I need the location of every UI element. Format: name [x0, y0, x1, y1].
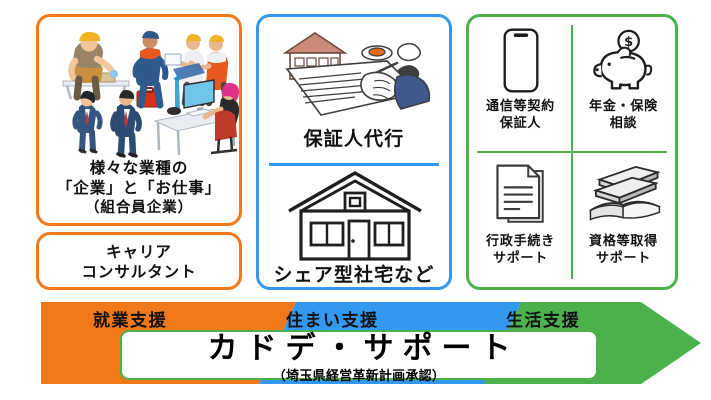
- living-caption-pension-line-2: 相談: [572, 116, 675, 133]
- house-line-drawing: [283, 171, 427, 263]
- banner-title: カドデ・サポート: [122, 332, 596, 366]
- living-item-pension-insurance: $: [572, 17, 675, 152]
- employment-label-line-2: 「企業」と「お仕事」: [39, 179, 239, 199]
- living-caption-pension-line-1: 年金・保険: [572, 99, 675, 116]
- living-item-telecom-guarantor: 通信等契約 保証人: [469, 17, 572, 152]
- panel-housing-support: 保証人代行 シェア型社宅: [256, 14, 452, 290]
- living-horizontal-divider: [477, 151, 667, 153]
- career-label-line-2: コンサルタント: [39, 263, 239, 283]
- books-icon: [572, 158, 675, 232]
- banner-title-plate: カドデ・サポート （埼玉県経営革新計画承認）: [120, 330, 598, 380]
- living-support-grid: 通信等契約 保証人 $: [469, 17, 675, 287]
- banner-label-housing: 住まい支援: [286, 306, 379, 331]
- living-caption-qualification-line-2: サポート: [572, 251, 675, 268]
- smartphone-icon: [469, 23, 572, 97]
- workers-and-office-people-illustration: [45, 21, 239, 159]
- document-icon: [469, 158, 572, 232]
- banner-label-employment: 就業支援: [93, 306, 167, 331]
- career-panel-label: キャリア コンサルタント: [39, 243, 239, 283]
- panel-employment-support: 様々な業種の 「企業」と「お仕事」 （組合員企業）: [36, 14, 242, 226]
- contract-signing-with-house-illustration: [269, 23, 441, 123]
- support-arrow-banner: 就業支援 住まい支援 生活支援 カドデ・サポート （埼玉県経営革新計画承認）: [41, 302, 701, 384]
- infographic-root: 様々な業種の 「企業」と「お仕事」 （組合員企業） キャリア コンサルタント: [0, 0, 711, 400]
- housing-bottom-label: シェア型社宅など: [259, 263, 449, 287]
- career-label-line-1: キャリア: [39, 243, 239, 263]
- living-caption-admin-line-2: サポート: [469, 251, 572, 268]
- panel-living-support: 通信等契約 保証人 $: [466, 14, 678, 290]
- panel-career-consultant: キャリア コンサルタント: [36, 232, 242, 290]
- living-item-qualification-support: 資格等取得 サポート: [572, 152, 675, 287]
- living-caption-admin: 行政手続き サポート: [469, 234, 572, 268]
- employment-label-line-3: （組合員企業）: [39, 199, 239, 218]
- living-caption-telecom: 通信等契約 保証人: [469, 99, 572, 133]
- employment-label-line-1: 様々な業種の: [39, 159, 239, 179]
- employment-panel-label: 様々な業種の 「企業」と「お仕事」 （組合員企業）: [39, 159, 239, 217]
- living-caption-admin-line-1: 行政手続き: [469, 234, 572, 251]
- living-item-admin-procedures: 行政手続き サポート: [469, 152, 572, 287]
- living-caption-telecom-line-2: 保証人: [469, 116, 572, 133]
- banner-label-living: 生活支援: [506, 306, 580, 331]
- living-caption-qualification-line-1: 資格等取得: [572, 234, 675, 251]
- living-caption-pension: 年金・保険 相談: [572, 99, 675, 133]
- living-caption-telecom-line-1: 通信等契約: [469, 99, 572, 116]
- living-caption-qualification: 資格等取得 サポート: [572, 234, 675, 268]
- housing-section-divider: [269, 163, 439, 166]
- piggy-bank-icon: $: [572, 23, 675, 97]
- housing-top-label: 保証人代行: [259, 127, 449, 151]
- banner-subtitle: （埼玉県経営革新計画承認）: [122, 365, 596, 384]
